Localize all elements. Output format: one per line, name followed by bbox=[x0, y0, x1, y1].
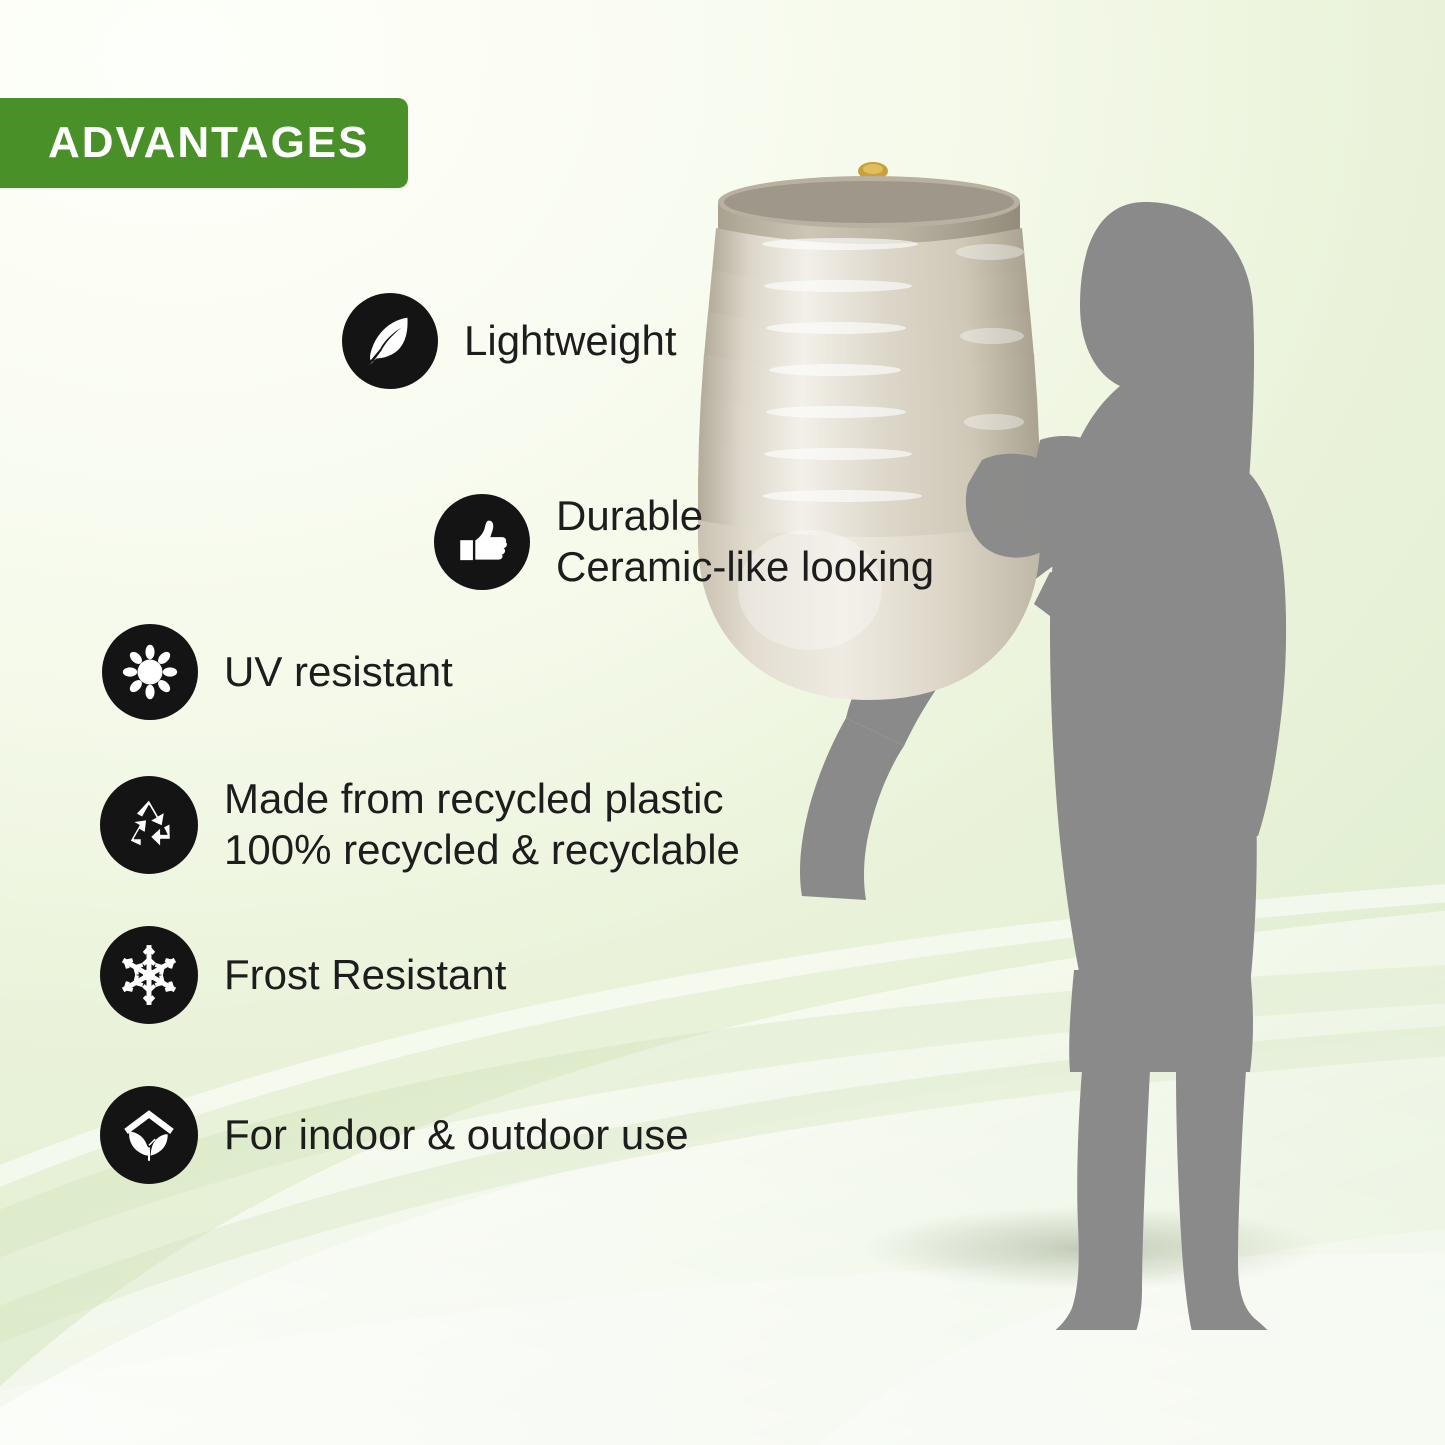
sun-icon bbox=[102, 624, 198, 720]
feature-durable-label: Durable Ceramic-like looking bbox=[556, 491, 934, 593]
feather-icon bbox=[342, 293, 438, 389]
feature-lightweight: Lightweight bbox=[342, 293, 676, 389]
feature-durable: Durable Ceramic-like looking bbox=[434, 491, 934, 593]
feature-recycled: Made from recycled plastic 100% recycled… bbox=[100, 774, 740, 876]
recycle-icon bbox=[100, 776, 198, 874]
planter-pot bbox=[698, 162, 1040, 700]
snowflake-icon bbox=[100, 926, 198, 1024]
house-plant-icon bbox=[100, 1086, 198, 1184]
product-photo bbox=[690, 140, 1445, 1330]
feature-recycled-label: Made from recycled plastic 100% recycled… bbox=[224, 774, 740, 876]
infographic-canvas: ADVANTAGES Lightweight Durable Ceramic-l… bbox=[0, 0, 1445, 1445]
feature-frost-resistant-label: Frost Resistant bbox=[224, 950, 506, 1001]
feature-uv-resistant-label: UV resistant bbox=[224, 647, 453, 698]
thumbs-up-icon bbox=[434, 494, 530, 590]
advantages-badge: ADVANTAGES bbox=[0, 98, 408, 188]
advantages-badge-label: ADVANTAGES bbox=[48, 118, 370, 168]
feature-frost-resistant: Frost Resistant bbox=[100, 926, 506, 1024]
feature-lightweight-label: Lightweight bbox=[464, 316, 676, 367]
feature-indoor-outdoor-label: For indoor & outdoor use bbox=[224, 1110, 689, 1161]
feature-uv-resistant: UV resistant bbox=[102, 624, 453, 720]
feature-indoor-outdoor: For indoor & outdoor use bbox=[100, 1086, 689, 1184]
